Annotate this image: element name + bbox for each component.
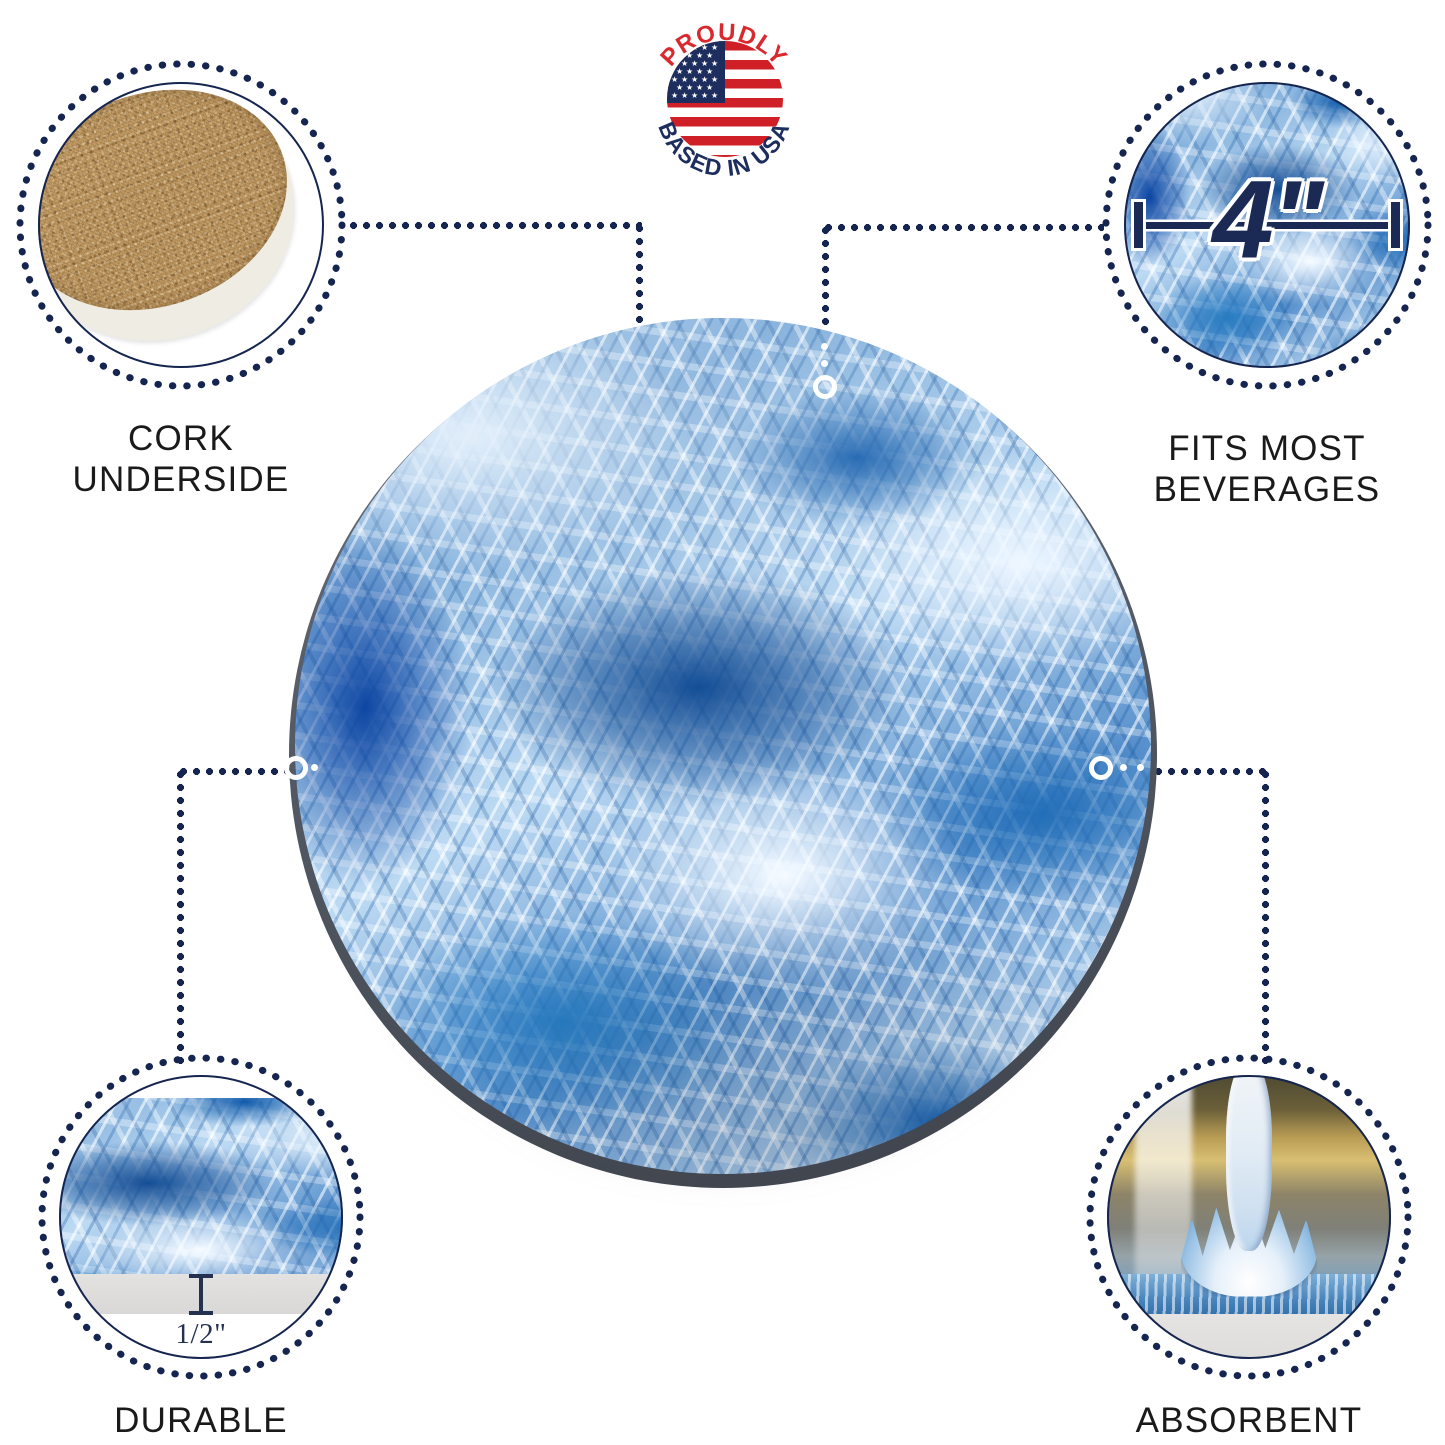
feature-label-fits-most-beverages: FITS MOST BEVERAGES xyxy=(1100,428,1434,511)
thickness-bar-top-cap xyxy=(189,1274,213,1278)
diameter-illustration: 4" xyxy=(1124,82,1410,368)
feature-label-absorbent: ABSORBENT xyxy=(1084,1400,1414,1441)
infographic-canvas: ★★★★★ ★★★★ ★★★★★ ★★★★ ★★★★★ ★★★★ ★★★★★ P… xyxy=(0,0,1445,1445)
coaster-side-band xyxy=(1107,1314,1391,1359)
callout-marker-left[interactable] xyxy=(284,756,308,780)
feature-cork-underside[interactable] xyxy=(14,58,348,392)
thickness-illustration: 1/2" xyxy=(59,1075,343,1359)
diameter-value: 4" xyxy=(1124,166,1410,276)
connector-cork-horizontal xyxy=(347,222,642,229)
feature-absorbent[interactable] xyxy=(1084,1052,1414,1382)
badge-arc-text: PROUDLY BASED IN USA xyxy=(648,8,800,203)
badge-bottom-text: BASED IN USA xyxy=(653,118,794,181)
callout-dot-top-b xyxy=(821,343,828,350)
callout-dot-left-a xyxy=(311,764,318,771)
connector-fits-horizontal xyxy=(822,224,1104,231)
thickness-value: 1/2" xyxy=(59,1318,343,1351)
thickness-marble-band xyxy=(59,1098,343,1274)
callout-marker-right[interactable] xyxy=(1089,756,1113,780)
marble-texture xyxy=(295,318,1151,1174)
svg-text:PROUDLY: PROUDLY xyxy=(655,19,792,72)
thickness-bar-bottom-cap xyxy=(189,1311,213,1315)
feature-fits-most-beverages[interactable]: 4" xyxy=(1100,58,1434,392)
feature-label-durable: DURABLE xyxy=(36,1400,366,1441)
marble-texture-durable xyxy=(59,1098,343,1274)
thickness-bar-vertical xyxy=(199,1274,203,1314)
water-pour-stream xyxy=(1226,1075,1271,1251)
svg-text:BASED IN USA: BASED IN USA xyxy=(653,118,794,181)
cork-underside-illustration xyxy=(38,82,324,368)
absorbent-illustration xyxy=(1107,1075,1391,1359)
callout-dot-right-b xyxy=(1137,764,1144,771)
cork-disc xyxy=(38,82,324,368)
feature-durable[interactable]: 1/2" xyxy=(36,1052,366,1382)
connector-absorbent-vertical xyxy=(1262,768,1269,1070)
connector-absorbent-horizontal xyxy=(1152,768,1269,775)
callout-dot-top-a xyxy=(821,360,828,367)
connector-durable-horizontal xyxy=(177,768,295,775)
connector-durable-vertical xyxy=(177,768,184,1070)
connector-cork-vertical xyxy=(636,222,643,328)
callout-marker-top[interactable] xyxy=(813,375,837,399)
badge-top-text: PROUDLY xyxy=(655,19,792,72)
coaster-face xyxy=(295,318,1151,1174)
callout-dot-right-a xyxy=(1120,764,1127,771)
feature-label-cork-underside: CORK UNDERSIDE xyxy=(14,418,348,501)
coaster-product-image xyxy=(289,318,1157,1186)
cork-texture xyxy=(38,82,317,347)
proudly-based-in-usa-badge: ★★★★★ ★★★★ ★★★★★ ★★★★ ★★★★★ ★★★★ ★★★★★ P… xyxy=(648,8,800,203)
